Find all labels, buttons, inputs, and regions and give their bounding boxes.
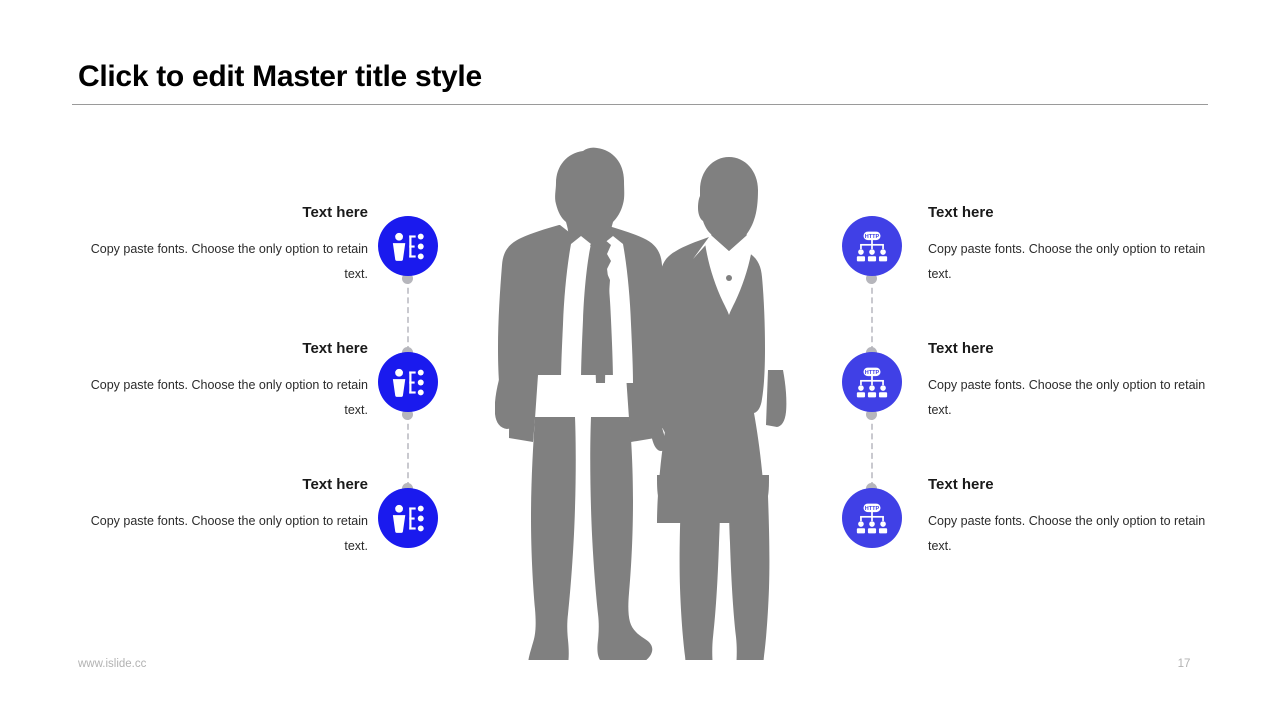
item-body[interactable]: Copy paste fonts. Choose the only option… <box>68 237 368 287</box>
slide-page-number: 17 <box>1160 658 1208 670</box>
silhouette-reflection <box>495 660 795 720</box>
user-list-icon[interactable] <box>378 216 438 276</box>
list-item: Text here Copy paste fonts. Choose the o… <box>928 339 1228 423</box>
item-title[interactable]: Text here <box>68 475 368 495</box>
user-list-icon[interactable] <box>378 352 438 412</box>
connector-line <box>871 414 875 488</box>
title-divider <box>72 104 1208 105</box>
item-title[interactable]: Text here <box>928 203 1228 223</box>
item-title[interactable]: Text here <box>928 339 1228 359</box>
list-item: Text here Copy paste fonts. Choose the o… <box>68 203 368 287</box>
footer-url[interactable]: www.islide.cc <box>78 658 146 670</box>
business-people-silhouette <box>495 140 795 660</box>
connector-line <box>871 278 875 352</box>
http-network-icon[interactable]: HTTP <box>842 488 902 548</box>
item-body[interactable]: Copy paste fonts. Choose the only option… <box>68 373 368 423</box>
http-icon-label: HTTP <box>865 506 880 512</box>
item-title[interactable]: Text here <box>68 203 368 223</box>
page-title[interactable]: Click to edit Master title style <box>78 60 482 94</box>
list-item: Text here Copy paste fonts. Choose the o… <box>928 475 1228 559</box>
user-list-icon[interactable] <box>378 488 438 548</box>
item-body[interactable]: Copy paste fonts. Choose the only option… <box>928 373 1228 423</box>
item-title[interactable]: Text here <box>928 475 1228 495</box>
connector-line <box>407 278 411 352</box>
list-item: Text here Copy paste fonts. Choose the o… <box>928 203 1228 287</box>
http-network-icon[interactable]: HTTP <box>842 352 902 412</box>
http-network-icon[interactable]: HTTP <box>842 216 902 276</box>
item-body[interactable]: Copy paste fonts. Choose the only option… <box>928 509 1228 559</box>
list-item: Text here Copy paste fonts. Choose the o… <box>68 475 368 559</box>
http-icon-label: HTTP <box>865 234 880 240</box>
connector-line <box>407 414 411 488</box>
list-item: Text here Copy paste fonts. Choose the o… <box>68 339 368 423</box>
item-body[interactable]: Copy paste fonts. Choose the only option… <box>68 509 368 559</box>
item-title[interactable]: Text here <box>68 339 368 359</box>
item-body[interactable]: Copy paste fonts. Choose the only option… <box>928 237 1228 287</box>
http-icon-label: HTTP <box>865 370 880 376</box>
